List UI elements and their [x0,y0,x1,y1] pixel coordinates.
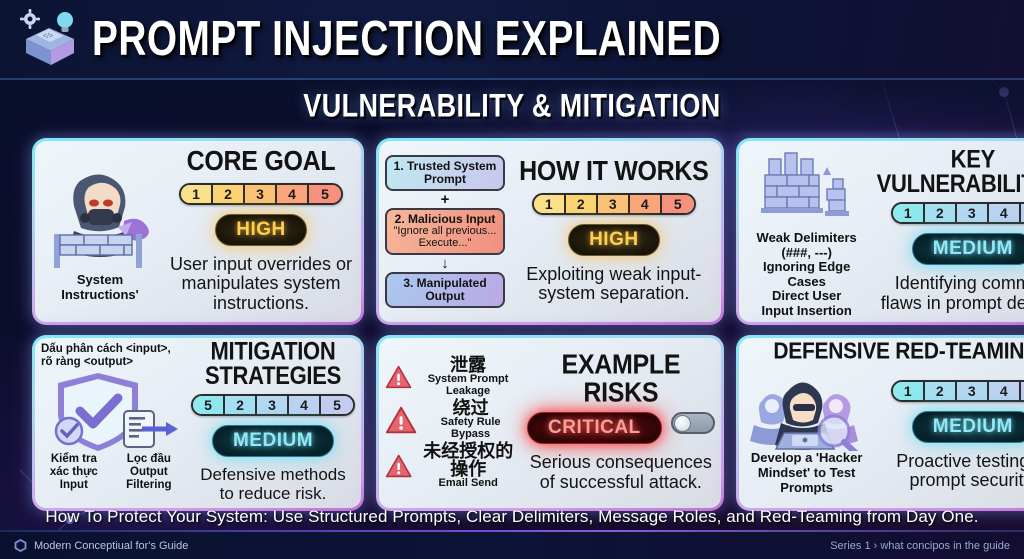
key-vulnerabilities-severity-badge: MEDIUM [912,233,1024,265]
scale-segment[interactable]: 5 [193,396,225,414]
scale-segment[interactable]: 1 [181,185,213,203]
subtitle-banner: VULNERABILITY & MITIGATION [0,80,1024,132]
card-how-it-works[interactable]: 1. Trusted System Prompt + 2. Malicious … [376,138,724,325]
how-it-works-description: Exploiting weak input-system separation. [513,265,715,305]
core-goal-scale[interactable]: 1 2 3 4 5 [179,183,343,205]
vuln-line-2: (###, ---) [781,245,832,260]
vuln-line-5: Input Insertion [762,303,852,318]
hacker-behind-wall-icon [44,161,156,273]
card-mitigation-strategies[interactable]: Dấu phân cách <input>, rõ ràng <output> [32,335,364,510]
footer-tagline-row: How To Protect Your System: Use Structur… [0,502,1024,532]
defensive-red-teaming-severity-badge: MEDIUM [912,411,1024,443]
how-it-works-flow: 1. Trusted System Prompt + 2. Malicious … [379,141,507,322]
broken-brick-wall-icon [755,145,859,231]
shield-check-document-icon [42,369,182,453]
core-goal-description: User input overrides or manipulates syst… [167,255,355,314]
risk-label-en: Email Send [417,478,519,490]
defensive-red-teaming-scale[interactable]: 1 2 3 4 5 [891,380,1024,402]
subtitle-text: VULNERABILITY & MITIGATION [303,87,720,124]
flow-step-2-quote: "Ignore all previous... Execute..." [393,226,497,250]
scale-segment[interactable]: 4 [989,204,1021,222]
scale-segment[interactable]: 4 [289,396,321,414]
card-example-risks[interactable]: 泄露 System Prompt Leakage 绕过 Safety Rule [376,335,724,510]
cards-grid: SystemInstructions' CORE GOAL 1 2 3 4 5 … [32,138,992,500]
how-it-works-title: HOW IT WORKS [519,158,708,185]
scale-segment[interactable]: 2 [213,185,245,203]
defensive-red-teaming-description: Proactive testing of prompt security. [877,452,1024,492]
vuln-line-4: Direct User [772,288,841,303]
how-it-works-severity-badge: HIGH [568,224,660,256]
key-vulnerabilities-title: KEY VULNERABILITIES [877,147,1024,195]
risk-label-cn: 泄露 [417,356,519,374]
example-risks-severity-badge: CRITICAL [527,412,662,444]
card-defensive-red-teaming[interactable]: DEFENSIVE RED-TEAMING [736,335,1024,510]
scale-segment[interactable]: 4 [630,195,662,213]
core-goal-severity-badge: HIGH [215,214,307,246]
key-vulnerabilities-illustration: Weak Delimiters (###, ---) Ignoring Edge… [739,141,871,322]
scale-segment[interactable]: 4 [989,382,1021,400]
scale-segment[interactable]: 5 [309,185,341,203]
mitigation-caption-top: Dấu phân cách <input>, rõ ràng <output> [41,343,183,369]
risk-label-cn: 绕过 [422,399,519,417]
risk-item: 泄露 System Prompt Leakage [385,356,519,397]
toggle-knob[interactable] [674,415,691,432]
key-vulnerabilities-scale[interactable]: 1 2 3 4 5 [891,202,1024,224]
flow-step-3: 3. Manipulated Output [385,272,505,308]
flow-step-2: 2. Malicious Input "Ignore all previous.… [385,208,505,255]
infographic-page: </> PROMPT INJECTION EXPLAINED VULNERABI… [0,0,1024,559]
scale-segment[interactable]: 2 [225,396,257,414]
defensive-red-teaming-title: DEFENSIVE RED-TEAMING [739,341,1024,364]
scale-segment[interactable]: 3 [245,185,277,203]
scale-segment[interactable]: 1 [893,204,925,222]
card-key-vulnerabilities[interactable]: Weak Delimiters (###, ---) Ignoring Edge… [736,138,1024,325]
flow-step-1: 1. Trusted System Prompt [385,155,505,191]
core-goal-title: CORE GOAL [187,148,336,175]
key-vulnerabilities-description: Identifying common flaws in prompt desig… [877,274,1024,314]
scale-segment[interactable]: 5 [321,396,353,414]
scale-segment[interactable]: 3 [957,204,989,222]
mitigation-strategies-scale[interactable]: 5 2 3 4 5 [191,394,355,416]
warning-triangle-icon [385,451,412,481]
flow-arrow-down-icon: ↓ [441,256,449,271]
example-risks-description: Serious consequences of successful attac… [527,453,715,493]
scale-segment[interactable]: 5 [662,195,694,213]
core-goal-caption: SystemInstructions' [61,273,139,302]
vuln-line-3: Ignoring Edge Cases [763,259,850,289]
series-label: Series 1 › what concipos in the guide [830,540,1010,552]
scale-segment[interactable]: 2 [925,204,957,222]
footer-tagline: How To Protect Your System: Use Structur… [45,507,978,527]
mitigation-output-tag: <output> [84,356,133,368]
scale-segment[interactable]: 3 [598,195,630,213]
red-teaming-caption: Develop a 'Hacker Mindset' to Test Promp… [745,451,869,495]
scale-segment[interactable]: 3 [957,382,989,400]
mitigation-strategies-title: MITIGATION STRATEGIES [191,340,355,388]
risk-label-cn: 未经授权的操作 [417,442,519,478]
page-header: </> PROMPT INJECTION EXPLAINED [0,0,1024,80]
svg-text:</>: </> [43,33,53,40]
risk-label-en: Safety Rule Bypass [422,417,519,440]
mitigation-caption-left: Kiểm tra xác thực Input [41,453,107,492]
key-vulnerabilities-caption: Weak Delimiters (###, ---) Ignoring Edge… [745,231,869,318]
example-risks-list: 泄露 System Prompt Leakage 绕过 Safety Rule [379,338,521,507]
toolbox-gear-bulb-icon: </> [16,7,82,71]
hacker-team-laptop-magnifier-icon [748,375,866,451]
mitigation-caption-right: Lọc đầu Output Filtering [115,453,183,492]
hexagon-ring-logo-icon [14,539,27,552]
brand-label: Modern Conceptiual for's Guide [34,540,188,552]
mitigation-strategies-severity-badge: MEDIUM [212,425,334,457]
risk-label-en: System Prompt Leakage [417,374,519,397]
vuln-line-1: Weak Delimiters [757,230,857,245]
core-goal-illustration: SystemInstructions' [35,141,161,322]
scale-segment[interactable]: 1 [534,195,566,213]
mitigation-illustration: Dấu phân cách <input>, rõ ràng <output> [35,338,185,507]
risk-item: 未经授权的操作 Email Send [385,442,519,490]
scale-segment[interactable]: 2 [925,382,957,400]
card-core-goal[interactable]: SystemInstructions' CORE GOAL 1 2 3 4 5 … [32,138,364,325]
flow-plus-symbol: + [441,192,450,207]
page-title: PROMPT INJECTION EXPLAINED [92,12,721,67]
red-teaming-illustration: Develop a 'Hacker Mindset' to Test Promp… [739,371,871,499]
bottom-bar: Modern Conceptiual for's Guide Series 1 … [0,532,1024,559]
mitigation-strategies-description: Defensive methods to reduce risk. [191,466,355,503]
how-it-works-scale[interactable]: 1 2 3 4 5 [532,193,696,215]
scale-segment[interactable]: 2 [566,195,598,213]
warning-triangle-icon [385,405,417,435]
example-risks-title: EXAMPLE RISKS [527,351,715,406]
risk-item: 绕过 Safety Rule Bypass [385,399,519,440]
scale-segment[interactable]: 1 [893,382,925,400]
example-risks-toggle[interactable] [671,412,715,434]
warning-triangle-icon [385,362,412,392]
scale-segment[interactable]: 3 [257,396,289,414]
scale-segment[interactable]: 4 [277,185,309,203]
